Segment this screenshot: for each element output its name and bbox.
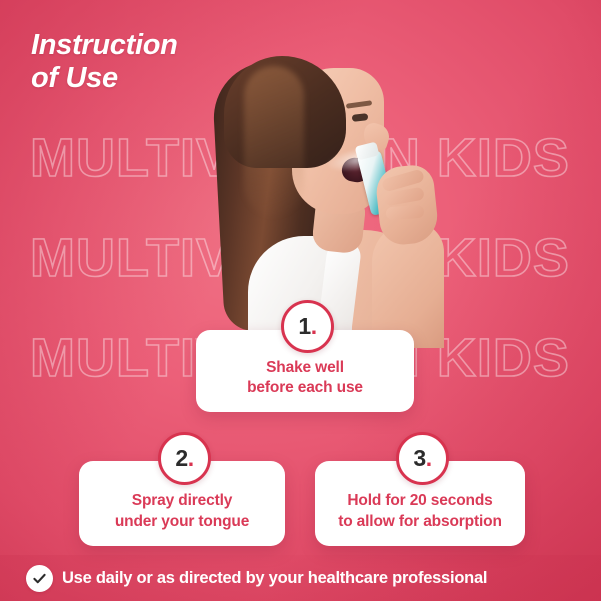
step-badge-1-dot: . <box>311 313 317 339</box>
footer-note: Use daily or as directed by your healthc… <box>0 555 601 601</box>
title-line-2: of Use <box>31 62 178 95</box>
step-card-2-line-1: Spray directly <box>115 491 249 511</box>
footer-text: Use daily or as directed by your healthc… <box>62 569 487 588</box>
finger-3 <box>386 205 425 221</box>
title-line-1: Instruction <box>31 29 178 62</box>
step-badge-3: 3. <box>396 432 449 485</box>
page-title: Instruction of Use <box>31 29 178 95</box>
step-badge-3-number: 3 <box>413 445 425 471</box>
step-badge-1-number: 1 <box>298 313 310 339</box>
step-badge-2-dot: . <box>188 445 194 471</box>
check-icon <box>26 565 53 592</box>
hero-photo-woman-using-spray <box>196 44 456 344</box>
step-badge-2-number: 2 <box>175 445 187 471</box>
step-card-3-line-2: to allow for absorption <box>338 512 502 532</box>
instruction-of-use-poster: MULTIVITAMIN KIDS MULTIVITAMIN KIDS MULT… <box>0 0 601 601</box>
hair-highlight <box>244 66 304 216</box>
step-badge-3-dot: . <box>426 445 432 471</box>
step-badge-1: 1. <box>281 300 334 353</box>
step-badge-3-label: 3. <box>413 447 431 470</box>
step-card-2-line-2: under your tongue <box>115 512 249 532</box>
step-card-1-line-1: Shake well <box>247 358 363 378</box>
step-badge-1-label: 1. <box>298 315 316 338</box>
step-badge-2: 2. <box>158 432 211 485</box>
step-badge-2-label: 2. <box>175 447 193 470</box>
step-card-3-line-1: Hold for 20 seconds <box>338 491 502 511</box>
step-card-1-line-2: before each use <box>247 378 363 398</box>
